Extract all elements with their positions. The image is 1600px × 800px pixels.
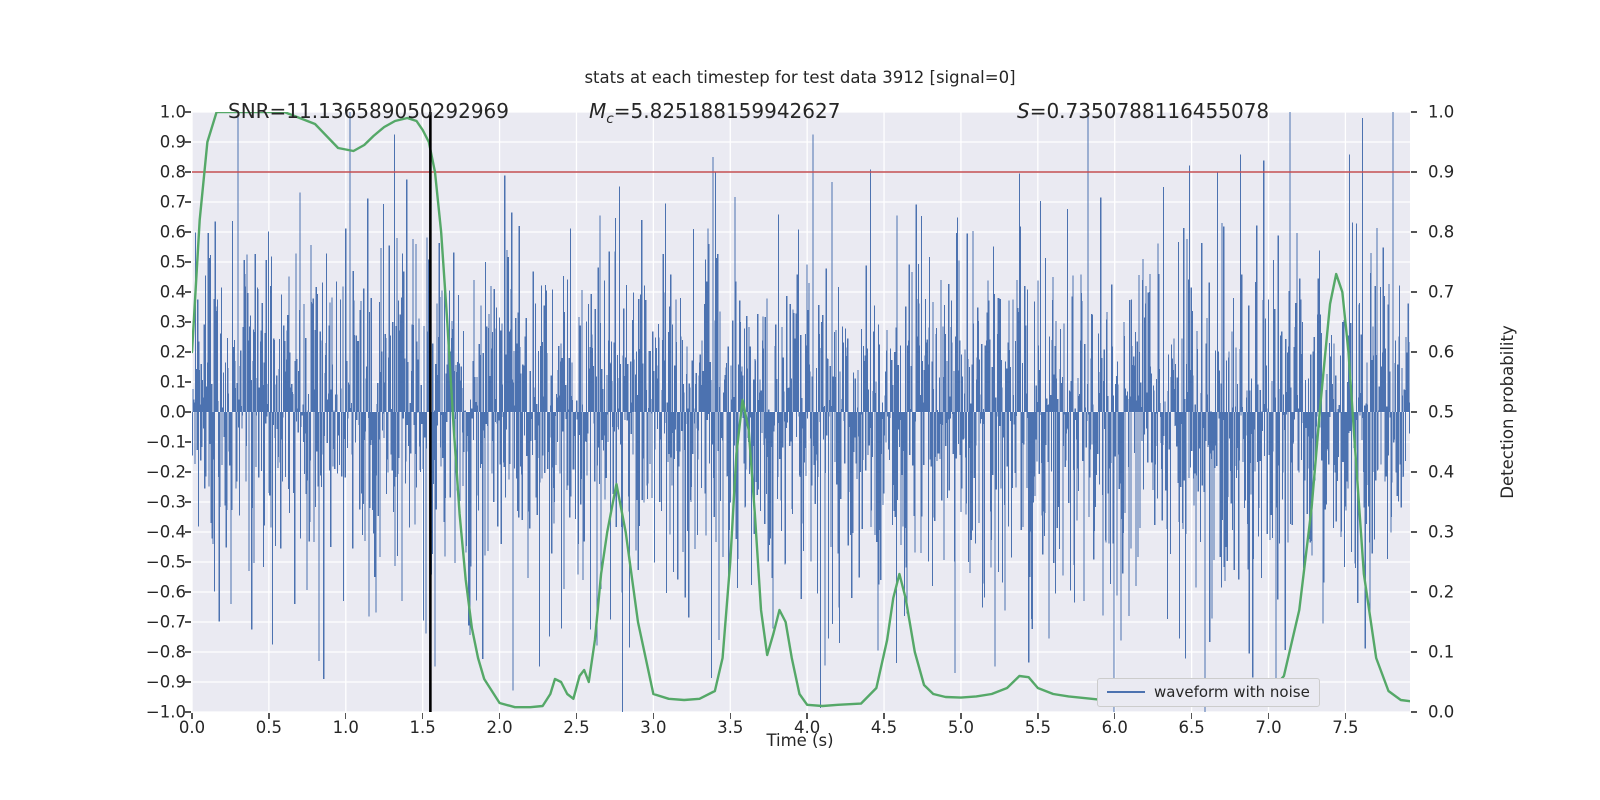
y-tick-label-right: 0.7 [1428, 283, 1454, 302]
y-tick-mark-left [185, 501, 191, 502]
x-tick-mark [576, 713, 577, 719]
y-tick-mark-right [1411, 351, 1417, 352]
y-axis-label-right: Detection probability [1498, 112, 1517, 712]
y-tick-label-right: 0.5 [1428, 403, 1454, 422]
y-tick-mark-right [1411, 291, 1417, 292]
x-tick-label: 3.0 [640, 718, 666, 737]
y-tick-mark-left [185, 591, 191, 592]
y-tick-label-left: −0.1 [146, 433, 186, 452]
x-tick-mark [1114, 713, 1115, 719]
y-tick-mark-left [185, 111, 191, 112]
y-tick-mark-right [1411, 531, 1417, 532]
y-tick-label-right: 0.0 [1428, 703, 1454, 722]
x-tick-mark [268, 713, 269, 719]
y-tick-label-left: 0.6 [160, 223, 186, 242]
y-tick-label-left: 1.0 [160, 103, 186, 122]
x-tick-mark [730, 713, 731, 719]
legend-label-waveform: waveform with noise [1154, 683, 1310, 701]
x-tick-label: 2.0 [486, 718, 512, 737]
y-tick-mark-left [185, 651, 191, 652]
y-tick-mark-left [185, 411, 191, 412]
y-tick-label-left: 0.8 [160, 163, 186, 182]
x-tick-mark [345, 713, 346, 719]
x-tick-label: 6.5 [1178, 718, 1204, 737]
x-tick-mark [191, 713, 192, 719]
x-tick-mark [1268, 713, 1269, 719]
annotation-chirp-mass: Mc=5.825188159942627 [589, 99, 840, 127]
figure: stats at each timestep for test data 391… [0, 0, 1600, 800]
x-tick-mark [1345, 713, 1346, 719]
y-tick-label-right: 0.6 [1428, 343, 1454, 362]
y-tick-label-right: 0.4 [1428, 463, 1454, 482]
y-tick-mark-left [185, 681, 191, 682]
y-tick-mark-left [185, 141, 191, 142]
y-tick-label-left: −0.7 [146, 613, 186, 632]
y-tick-mark-left [185, 531, 191, 532]
x-tick-label: 3.5 [717, 718, 743, 737]
x-tick-label: 7.5 [1332, 718, 1358, 737]
x-tick-label: 0.5 [256, 718, 282, 737]
y-tick-label-left: 0.3 [160, 313, 186, 332]
x-tick-label: 5.0 [948, 718, 974, 737]
x-tick-label: 4.5 [871, 718, 897, 737]
y-tick-label-left: 0.2 [160, 343, 186, 362]
x-tick-mark [499, 713, 500, 719]
x-tick-label: 1.0 [333, 718, 359, 737]
y-tick-mark-left [185, 471, 191, 472]
annotation-score: S=0.7350788116455078 [1017, 99, 1269, 123]
y-tick-mark-left [185, 171, 191, 172]
y-tick-label-left: 0.7 [160, 193, 186, 212]
y-tick-mark-left [185, 441, 191, 442]
x-tick-mark [960, 713, 961, 719]
x-tick-mark [806, 713, 807, 719]
y-tick-mark-left [185, 291, 191, 292]
x-tick-mark [653, 713, 654, 719]
y-tick-label-right: 0.3 [1428, 523, 1454, 542]
y-tick-mark-right [1411, 411, 1417, 412]
y-tick-mark-left [185, 351, 191, 352]
y-tick-label-left: 0.0 [160, 403, 186, 422]
y-tick-label-right: 0.9 [1428, 163, 1454, 182]
y-tick-label-left: 0.4 [160, 283, 186, 302]
y-tick-label-left: 0.1 [160, 373, 186, 392]
x-tick-label: 6.0 [1102, 718, 1128, 737]
y-tick-label-right: 0.1 [1428, 643, 1454, 662]
x-tick-mark [883, 713, 884, 719]
y-tick-label-left: −0.2 [146, 463, 186, 482]
y-tick-mark-left [185, 711, 191, 712]
y-tick-mark-right [1411, 591, 1417, 592]
y-tick-label-left: 0.5 [160, 253, 186, 272]
legend-swatch-waveform [1107, 691, 1145, 693]
y-tick-mark-left [185, 381, 191, 382]
y-tick-label-left: −0.5 [146, 553, 186, 572]
chart-title: stats at each timestep for test data 391… [0, 68, 1600, 87]
x-tick-mark [1037, 713, 1038, 719]
plot-area [192, 112, 1410, 712]
y-tick-label-right: 0.8 [1428, 223, 1454, 242]
y-tick-mark-left [185, 201, 191, 202]
y-tick-mark-right [1411, 231, 1417, 232]
y-tick-mark-left [185, 621, 191, 622]
y-tick-mark-left [185, 561, 191, 562]
y-tick-label-right: 1.0 [1428, 103, 1454, 122]
y-tick-mark-right [1411, 471, 1417, 472]
y-tick-label-left: −0.6 [146, 583, 186, 602]
annotation-snr: SNR=11.136589050292969 [228, 99, 509, 123]
y-tick-mark-left [185, 231, 191, 232]
x-tick-mark [1191, 713, 1192, 719]
y-tick-label-left: −0.8 [146, 643, 186, 662]
plot-canvas [192, 112, 1410, 712]
y-tick-label-left: −0.9 [146, 673, 186, 692]
legend: waveform with noise [1097, 678, 1320, 707]
x-tick-label: 4.0 [794, 718, 820, 737]
y-tick-mark-right [1411, 651, 1417, 652]
y-tick-mark-right [1411, 111, 1417, 112]
y-tick-mark-right [1411, 711, 1417, 712]
x-tick-label: 5.5 [1025, 718, 1051, 737]
x-tick-label: 2.5 [563, 718, 589, 737]
y-tick-label-right: 0.2 [1428, 583, 1454, 602]
x-tick-label: 7.0 [1255, 718, 1281, 737]
x-tick-label: 0.0 [179, 718, 205, 737]
y-tick-label-left: 0.9 [160, 133, 186, 152]
y-tick-mark-right [1411, 171, 1417, 172]
y-tick-label-left: −0.3 [146, 493, 186, 512]
y-tick-mark-left [185, 321, 191, 322]
y-tick-label-left: −0.4 [146, 523, 186, 542]
x-tick-mark [422, 713, 423, 719]
x-tick-label: 1.5 [410, 718, 436, 737]
y-tick-mark-left [185, 261, 191, 262]
